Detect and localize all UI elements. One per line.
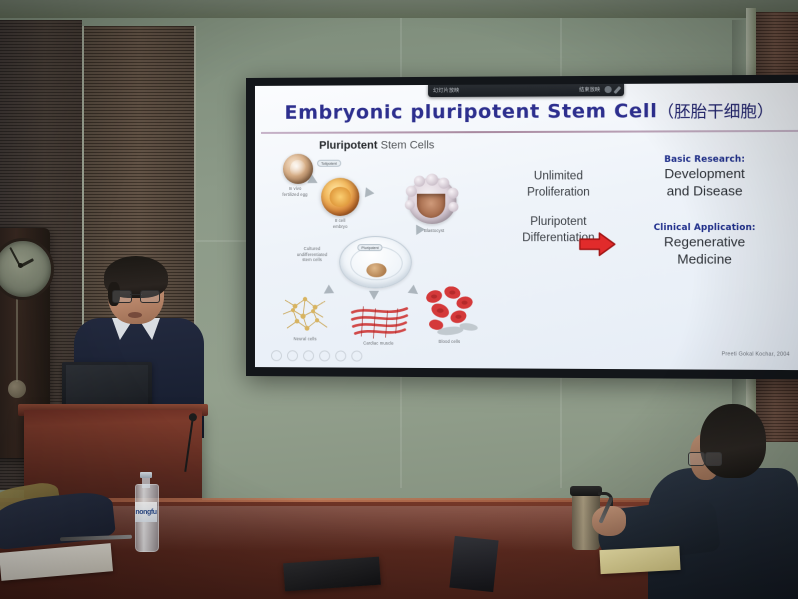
conference-room-photo: 幻灯片放映 结束放映 Embryonic pluripotent Stem Ce… xyxy=(0,0,798,599)
pen-icon[interactable] xyxy=(613,85,621,93)
flow-arrow-3-icon xyxy=(412,225,425,238)
title-divider xyxy=(261,130,798,134)
previous-slide-icon[interactable] xyxy=(271,350,282,361)
clock-pivot xyxy=(18,263,23,268)
blastocyst-illustration xyxy=(408,178,457,224)
powerpoint-control-bar[interactable]: 幻灯片放映 结束放映 xyxy=(428,83,624,97)
red-right-arrow-icon xyxy=(579,231,616,257)
flow-arrow-5-icon xyxy=(369,291,379,300)
slide-title-chinese: （胚胎干细胞） xyxy=(658,101,774,121)
thumbnail-grid-icon[interactable] xyxy=(319,350,330,361)
settings-gear-icon[interactable] xyxy=(605,86,612,93)
pill-pluripotent: Pluripotent xyxy=(357,244,382,251)
water-bottle[interactable]: nongfu xyxy=(135,472,157,550)
label-cardiac-muscle: Cardiac muscle xyxy=(351,340,405,346)
presenter-mouth xyxy=(128,312,142,318)
attendee-hand xyxy=(592,506,626,536)
text-development: Development xyxy=(622,166,788,183)
neural-cells-illustration xyxy=(277,290,333,338)
pill-totipotent: Totipotent xyxy=(317,160,341,167)
text-pluripotent: Pluripotent xyxy=(497,215,620,231)
bottle-cap xyxy=(140,472,152,478)
slide-title-english: Embryonic pluripotent Stem Cell xyxy=(284,100,657,124)
slide-title: Embryonic pluripotent Stem Cell（胚胎干细胞） xyxy=(255,97,798,124)
eight-cell-embryo-illustration xyxy=(321,178,359,216)
label-blood-cells: Blood cells xyxy=(426,339,473,345)
diagram-heading-rest: Stem Cells xyxy=(378,139,435,151)
ppt-bar-spacer xyxy=(464,90,575,91)
projection-display[interactable]: 幻灯片放映 结束放映 Embryonic pluripotent Stem Ce… xyxy=(246,75,798,380)
text-and-disease: and Disease xyxy=(622,183,788,200)
powerpoint-toolbar-icons[interactable] xyxy=(271,350,362,361)
presenter-glasses-icon xyxy=(112,290,160,301)
ppt-bar-right-label[interactable]: 结束放映 xyxy=(579,86,600,93)
ppt-bar-left-label: 幻灯片放映 xyxy=(433,87,459,94)
clock-pendulum-rod xyxy=(16,296,18,382)
more-options-icon[interactable] xyxy=(351,351,362,362)
slide-citation: Preeti Gokal Kochar, 2004 xyxy=(722,351,790,357)
cardiac-muscle-illustration xyxy=(349,300,410,340)
heading-basic-research: Basic Research: xyxy=(622,154,788,165)
diagram-heading-bold: Pluripotent xyxy=(319,140,377,152)
bottle-label: nongfu xyxy=(135,502,157,522)
next-slide-icon[interactable] xyxy=(287,350,298,361)
label-neural-cells: Neural cells xyxy=(281,336,329,342)
right-text-block: Basic Research: Development and Disease … xyxy=(622,154,788,268)
clock-pendulum-bob xyxy=(8,380,26,398)
label-fertilized-egg: In vivo fertilized egg xyxy=(275,186,315,197)
device-on-table-2[interactable] xyxy=(449,536,498,592)
label-cultured-stem-cells: Cultured undifferentiated stem cells xyxy=(289,246,335,263)
text-proliferation: Proliferation xyxy=(497,185,620,201)
pen-tool-icon[interactable] xyxy=(303,350,314,361)
powerpoint-slide[interactable]: 幻灯片放映 结束放映 Embryonic pluripotent Stem Ce… xyxy=(255,83,798,370)
stem-cell-diagram: Pluripotent Stem Cells In vivo fertilize… xyxy=(277,139,491,351)
yellow-notepad[interactable] xyxy=(599,546,680,574)
text-regenerative: Regenerative xyxy=(622,234,788,251)
attendee-glasses-icon xyxy=(688,452,722,464)
diagram-heading: Pluripotent Stem Cells xyxy=(319,139,434,151)
text-medicine: Medicine xyxy=(622,251,788,268)
label-8-cell-embryo: 8 cell embryo xyxy=(319,218,361,229)
heading-clinical-application: Clinical Application: xyxy=(622,223,788,233)
zoom-icon[interactable] xyxy=(335,350,346,361)
attendee-head xyxy=(700,404,766,478)
text-unlimited: Unlimited xyxy=(497,169,620,185)
flow-arrow-2-icon xyxy=(365,187,375,198)
blood-cells-illustration xyxy=(420,286,479,339)
